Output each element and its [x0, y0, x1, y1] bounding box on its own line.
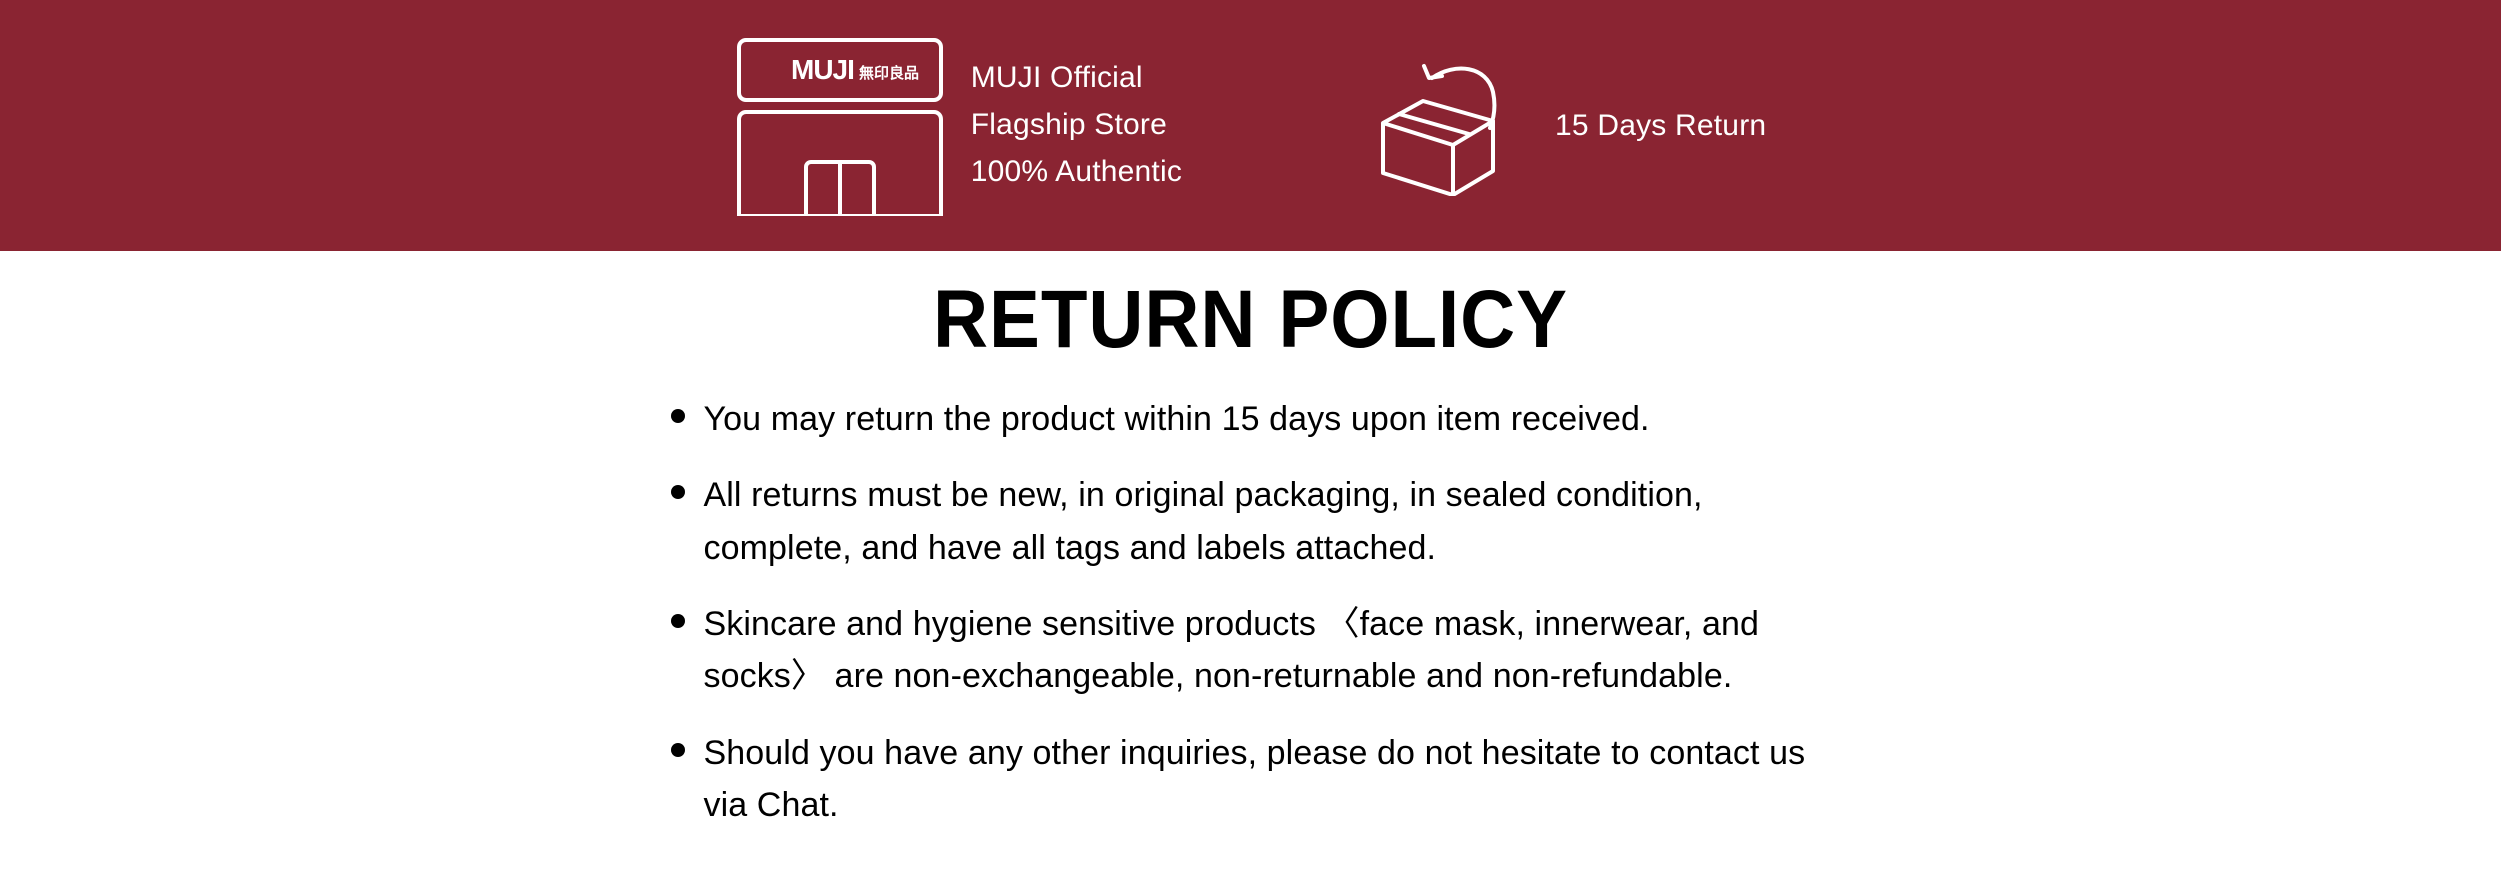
bullet-icon — [671, 485, 685, 499]
return-box-icon — [1377, 56, 1527, 196]
muji-storefront-icon: MUJI 無印良品 — [735, 36, 945, 216]
svg-text:無印良品: 無印良品 — [859, 64, 919, 82]
bullet-icon — [671, 614, 685, 628]
list-item: Should you have any other inquiries, ple… — [671, 727, 1831, 832]
list-item-text: Should you have any other inquiries, ple… — [704, 727, 1831, 832]
policy-bullet-list: You may return the product within 15 day… — [671, 393, 1831, 832]
banner-content: MUJI 無印良品 MUJI Official Flagship Store 1… — [735, 36, 1767, 216]
store-description-line-2: Flagship Store — [971, 102, 1182, 149]
official-store-feature: MUJI 無印良品 MUJI Official Flagship Store 1… — [735, 36, 1182, 216]
list-item-text: All returns must be new, in original pac… — [704, 469, 1831, 574]
bullet-icon — [671, 743, 685, 757]
promo-banner: MUJI 無印良品 MUJI Official Flagship Store 1… — [0, 0, 2501, 251]
list-item: You may return the product within 15 day… — [671, 393, 1831, 445]
return-period-feature: 15 Days Return — [1377, 56, 1766, 196]
return-period-label: 15 Days Return — [1555, 109, 1766, 143]
store-description-line-3: 100% Authentic — [971, 149, 1182, 196]
page-title: RETURN POLICY — [88, 273, 2414, 367]
svg-text:MUJI: MUJI — [791, 54, 854, 85]
list-item: All returns must be new, in original pac… — [671, 469, 1831, 574]
list-item-text: You may return the product within 15 day… — [704, 393, 1650, 445]
store-description-line-1: MUJI Official — [971, 55, 1182, 102]
bullet-icon — [671, 409, 685, 423]
store-description: MUJI Official Flagship Store 100% Authen… — [971, 55, 1182, 195]
policy-content: RETURN POLICY You may return the product… — [0, 251, 2501, 832]
list-item: Skincare and hygiene sensitive products … — [671, 598, 1831, 703]
list-item-text: Skincare and hygiene sensitive products … — [704, 598, 1831, 703]
